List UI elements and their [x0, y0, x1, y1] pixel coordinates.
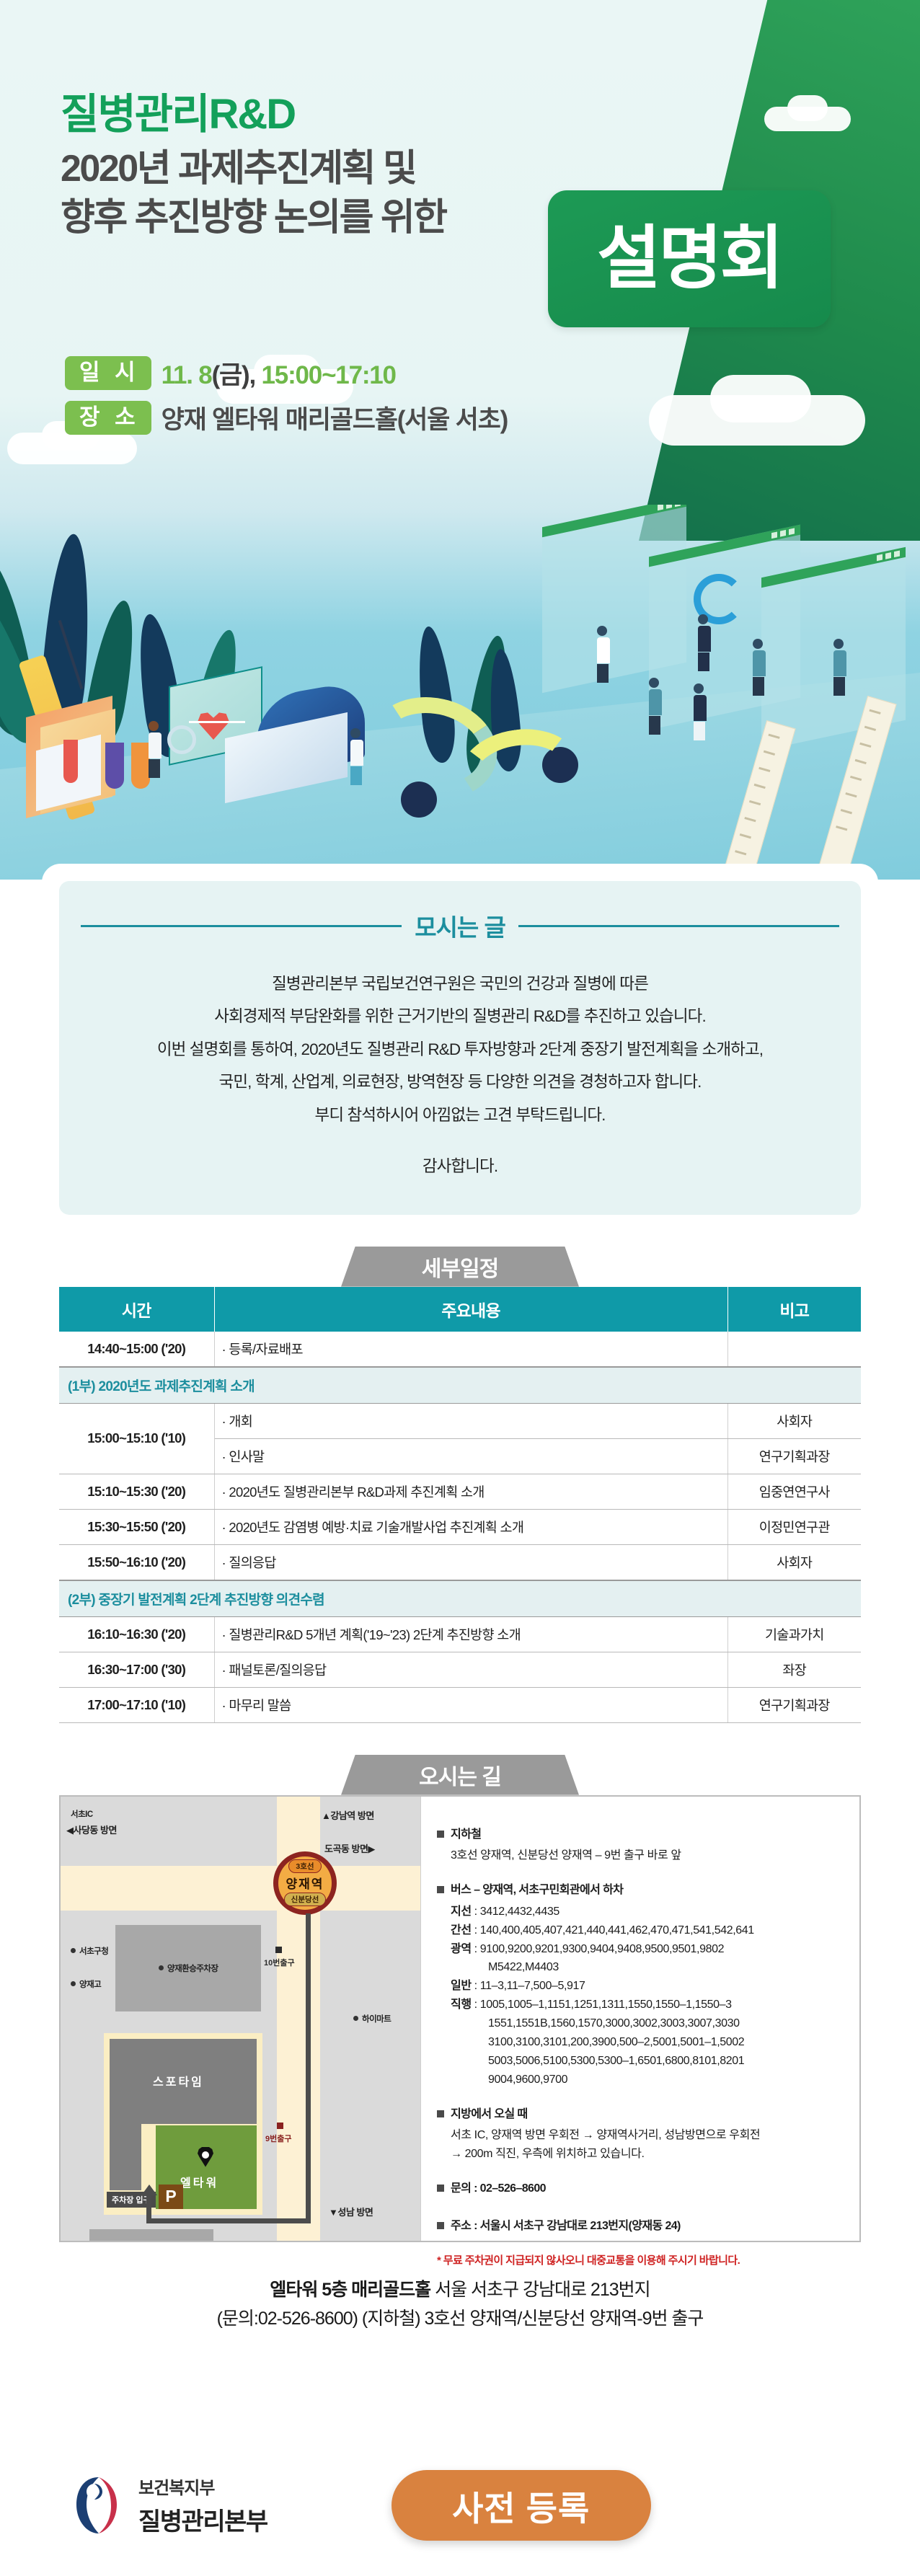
col-header-content: 주요내용 — [214, 1287, 727, 1332]
exit-10-label: 10번출구 — [264, 1957, 295, 1968]
subway-title: 지하철 — [451, 1825, 481, 1844]
date-value-day: (금), — [212, 361, 255, 389]
car-title: 지방에서 오실 때 — [451, 2105, 528, 2124]
cell-time: 14:40~15:00 ('20) — [59, 1332, 214, 1367]
exit-9-label: 9번출구 — [265, 2133, 291, 2144]
directions-section-tab: 오시는 길 — [341, 1755, 579, 1795]
illustration-person — [149, 721, 162, 778]
cell-content: · 2020년도 감염병 예방·치료 기술개발사업 추진계획 소개 — [214, 1509, 727, 1544]
part-label: (1부) 2020년도 과제추진계획 소개 — [59, 1367, 861, 1404]
col-header-time: 시간 — [59, 1287, 214, 1332]
illustration-person — [753, 639, 766, 696]
table-part-row: (2부) 중장기 발전계획 2단계 추진방향 의견수렴 — [59, 1580, 861, 1617]
car-line-2: → 200m 직진, 우측에 위치하고 있습니다. — [437, 2145, 841, 2164]
bus-block: 버스 – 양재역, 서초구민회관에서 하차 — [437, 1881, 841, 1900]
invitation-paragraph: 질병관리본부 국립보건연구원은 국민의 건강과 질병에 따른 — [81, 968, 839, 1000]
cell-content: · 인사말 — [214, 1438, 727, 1474]
hero-title-block: 질병관리R&D 2020년 과제추진계획 및 향후 추진방향 논의를 위한 — [61, 92, 446, 242]
map-poi-seochogu: 서초구청 — [71, 1945, 108, 1957]
road-horizontal — [61, 1866, 420, 1911]
bus-line: 직행 : 1005,1005–1,1151,1251,1311,1550,155… — [437, 1996, 841, 2014]
cell-content: · 패널토론/질의응답 — [214, 1652, 727, 1687]
map-poi-transfer-lot: 양재환승주차장 — [159, 1962, 218, 1974]
bus-line: 간선 : 140,400,405,407,421,440,441,462,470… — [437, 1921, 841, 1940]
taegeuk-logo-icon — [72, 2474, 125, 2536]
event-type-badge: 설명회 — [548, 190, 831, 327]
date-value-time: 15:00~17:10 — [262, 361, 396, 389]
address-block: 주소 : 서울시 서초구 강남대로 213번지(양재동 24) — [437, 2217, 841, 2236]
map-label-sadangdong: ◀사당동 방면 — [66, 1823, 117, 1836]
cell-content: · 개회 — [214, 1403, 727, 1438]
bus-line-cont: M5422,M4403 — [437, 1958, 841, 1977]
bus-line: 광역 : 9100,9200,9201,9300,9404,9408,9500,… — [437, 1940, 841, 1959]
poster-root: 질병관리R&D 2020년 과제추진계획 및 향후 추진방향 논의를 위한 설명… — [0, 0, 920, 2576]
station-line3-pill: 3호선 — [288, 1859, 321, 1873]
ministry-name: 보건복지부 — [138, 2474, 267, 2499]
ministry-logo-text: 보건복지부 질병관리본부 — [138, 2474, 267, 2537]
cell-time: 16:30~17:00 ('30) — [59, 1652, 214, 1687]
hero-illustration — [0, 505, 920, 880]
heading-rule-left — [81, 925, 402, 927]
cell-note: 연구기획과장 — [727, 1687, 861, 1722]
table-row: 17:00~17:10 ('10) · 마무리 말씀 연구기획과장 — [59, 1687, 861, 1722]
schedule-table: 시간 주요내용 비고 14:40~15:00 ('20) · 등록/자료배포 (… — [59, 1287, 861, 1723]
cell-note: 연구기획과장 — [727, 1438, 861, 1474]
route-path-vertical — [306, 1913, 311, 2223]
illustration-person — [833, 639, 846, 696]
station-marker: 3호선 양재역 신분당선 — [273, 1851, 337, 1915]
col-header-note: 비고 — [727, 1287, 861, 1332]
hero-subtitle-line1: 2020년 과제추진계획 및 — [61, 145, 446, 193]
invitation-thanks: 감사합니다. — [81, 1150, 839, 1182]
route-arrow-icon — [141, 2185, 157, 2195]
content-card: 모시는 글 질병관리본부 국립보건연구원은 국민의 건강과 질병에 따른 사회경… — [42, 864, 878, 2334]
table-row: 15:10~15:30 ('20) · 2020년도 질병관리본부 R&D과제 … — [59, 1474, 861, 1509]
cell-note: 임중연연구사 — [727, 1474, 861, 1509]
exit-10-marker — [275, 1947, 282, 1953]
map-dot-icon — [71, 1981, 76, 1986]
parking-warning: * 무료 주차권이 지급되지 않사오니 대중교통을 이용해 주시기 바랍니다. — [437, 2252, 841, 2267]
invitation-heading-text: 모시는 글 — [415, 908, 505, 943]
map-label-seongnam: ▼성남 방면 — [329, 2205, 373, 2218]
invitation-paragraph: 부디 참석하시어 아낌없는 고견 부탁드립니다. — [81, 1099, 839, 1131]
map-label-gangnam: ▲강남역 방면 — [322, 1808, 374, 1822]
bus-line-cont: 5003,5006,5100,5300,5300–1,6501,6800,810… — [437, 2052, 841, 2071]
cell-content: · 질의응답 — [214, 1544, 727, 1580]
date-value-pre: 11. 8 — [162, 361, 212, 389]
schedule-section: 세부일정 시간 주요내용 비고 14:40~15:00 ('20) · 등록/자… — [59, 1247, 861, 1723]
table-row: 16:10~16:30 ('20) · 질병관리R&D 5개년 계획('19~'… — [59, 1616, 861, 1652]
car-line-1: 서초 IC, 양재역 방면 우회전 → 양재역사거리, 성남방면으로 우회전 — [437, 2126, 841, 2145]
footer-bar: 보건복지부 질병관리본부 사전 등록 — [0, 2435, 920, 2576]
table-part-row: (1부) 2020년도 과제추진계획 소개 — [59, 1367, 861, 1404]
cell-time: 15:50~16:10 ('20) — [59, 1544, 214, 1580]
illustration-person — [649, 678, 662, 735]
subway-block: 지하철 — [437, 1825, 841, 1844]
date-tag: 일 시 — [65, 356, 151, 390]
table-row: 15:50~16:10 ('20) · 질의응답 사회자 — [59, 1544, 861, 1580]
cell-time: 16:10~16:30 ('20) — [59, 1616, 214, 1652]
cell-content: · 등록/자료배포 — [214, 1332, 727, 1367]
map-label-dogokdong: 도곡동 방면▶ — [324, 1841, 375, 1855]
map-poi-eltower: 엘타워 — [180, 2173, 218, 2190]
bullet-square-icon — [437, 1886, 444, 1893]
map-graphic: 서초IC ◀사당동 방면 ▲강남역 방면 도곡동 방면▶ ▼성남 방면 3호선 … — [61, 1797, 421, 2241]
map-dot-icon — [159, 1965, 164, 1970]
footer-venue-name: 엘타워 5층 매리골드홀 — [270, 2280, 430, 2300]
map-poi-himart: 하이마트 — [353, 2013, 391, 2024]
footer-address-line2: (문의:02-526-8600) (지하철) 3호선 양재역/신분당선 양재역-… — [59, 2304, 861, 2334]
brand-title: 질병관리R&D — [61, 92, 446, 138]
station-name: 양재역 — [286, 1874, 324, 1892]
place-value: 양재 엘타워 매리골드홀(서울 서초) — [162, 399, 508, 436]
directions-section: 오시는 길 서초IC ◀사당동 방면 ▲강남역 방면 도곡동 방면▶ ▼성남 방… — [59, 1755, 861, 2242]
schedule-section-title: 세부일정 — [422, 1251, 498, 1283]
illustration-person — [350, 728, 363, 785]
cell-note: 사회자 — [727, 1403, 861, 1438]
schedule-header-row: 시간 주요내용 비고 — [59, 1287, 861, 1332]
agency-name: 질병관리본부 — [138, 2502, 267, 2537]
date-value: 11. 8(금), 15:00~17:10 — [162, 355, 396, 391]
place-tag: 장 소 — [65, 401, 151, 435]
cell-note: 사회자 — [727, 1544, 861, 1580]
ministry-logo-group: 보건복지부 질병관리본부 — [72, 2474, 267, 2537]
part-label: (2부) 중장기 발전계획 2단계 추진방향 의견수렴 — [59, 1580, 861, 1617]
bullet-square-icon — [437, 2222, 444, 2229]
pre-register-button[interactable]: 사전 등록 — [392, 2470, 651, 2541]
map-dot-icon — [353, 2016, 358, 2021]
bus-line: 지선 : 3412,4432,4435 — [437, 1903, 841, 1921]
map-block-community-hall — [89, 2229, 213, 2241]
illustration-person — [698, 614, 711, 671]
hero-section: 질병관리R&D 2020년 과제추진계획 및 향후 추진방향 논의를 위한 설명… — [0, 0, 920, 880]
cell-note: 좌장 — [727, 1652, 861, 1687]
invitation-paragraph: 이번 설명회를 통하여, 2020년도 질병관리 R&D 투자방향과 2단계 중… — [81, 1033, 839, 1066]
bus-line: 일반 : 11–3,11–7,500–5,917 — [437, 1977, 841, 1996]
table-row: 15:00~15:10 ('10) · 개회 사회자 — [59, 1403, 861, 1438]
contact-block: 문의 : 02–526–8600 — [437, 2179, 841, 2198]
cell-time: 17:00~17:10 ('10) — [59, 1687, 214, 1722]
bullet-square-icon — [437, 2110, 444, 2117]
cell-content: · 질병관리R&D 5개년 계획('19~'23) 2단계 추진방향 소개 — [214, 1616, 727, 1652]
schedule-section-tab: 세부일정 — [341, 1247, 579, 1287]
address-title: 주소 : 서울시 서초구 강남대로 213번지(양재동 24) — [451, 2217, 681, 2236]
map-label-seochoic: 서초IC — [71, 1808, 93, 1820]
illustration-person — [694, 683, 707, 740]
map-block-spotime-wing — [110, 2124, 141, 2190]
cell-content: · 마무리 말씀 — [214, 1687, 727, 1722]
map-dot-icon — [71, 1948, 76, 1953]
invitation-paragraph: 사회경제적 부담완화를 위한 근거기반의 질병관리 R&D를 추진하고 있습니다… — [81, 1000, 839, 1032]
map-poi-yangjaego: 양재고 — [71, 1978, 101, 1990]
subway-detail: 3호선 양재역, 신분당선 양재역 – 9번 출구 바로 앞 — [437, 1846, 841, 1865]
event-type-badge-label: 설명회 — [597, 224, 782, 293]
cell-time: 15:00~15:10 ('10) — [59, 1403, 214, 1474]
illustration-person — [597, 626, 610, 683]
cell-time: 15:30~15:50 ('20) — [59, 1509, 214, 1544]
exit-9-marker — [277, 2123, 283, 2129]
table-row: 15:30~15:50 ('20) · 2020년도 감염병 예방·치료 기술개… — [59, 1509, 861, 1544]
table-row: 16:30~17:00 ('30) · 패널토론/질의응답 좌장 — [59, 1652, 861, 1687]
place-row: 장 소 양재 엘타워 매리골드홀(서울 서초) — [65, 399, 508, 436]
invitation-block: 모시는 글 질병관리본부 국립보건연구원은 국민의 건강과 질병에 따른 사회경… — [59, 881, 861, 1215]
invitation-paragraph: 국민, 학계, 산업계, 의료현장, 방역현장 등 다양한 의견을 경청하고자 … — [81, 1066, 839, 1098]
route-path-entry — [146, 2195, 151, 2223]
hero-info-rows: 일 시 11. 8(금), 15:00~17:10 장 소 양재 엘타워 매리골… — [65, 355, 508, 444]
pre-register-button-label: 사전 등록 — [452, 2481, 590, 2531]
bullet-square-icon — [437, 2185, 444, 2192]
cell-note — [727, 1332, 861, 1367]
route-path-horizontal — [149, 2218, 311, 2223]
bus-title: 버스 – 양재역, 서초구민회관에서 하차 — [451, 1881, 623, 1900]
directions-text: 지하철 3호선 양재역, 신분당선 양재역 – 9번 출구 바로 앞 버스 – … — [421, 1797, 859, 2241]
table-row: 14:40~15:00 ('20) · 등록/자료배포 — [59, 1332, 861, 1367]
bus-line-cont: 3100,3100,3101,200,3900,500–2,5001,5001–… — [437, 2033, 841, 2052]
cell-content: · 2020년도 질병관리본부 R&D과제 추진계획 소개 — [214, 1474, 727, 1509]
cell-note: 이정민연구관 — [727, 1509, 861, 1544]
date-row: 일 시 11. 8(금), 15:00~17:10 — [65, 355, 508, 391]
heading-rule-right — [518, 925, 839, 927]
bus-line-cont: 9004,9600,9700 — [437, 2071, 841, 2089]
map-container: 서초IC ◀사당동 방면 ▲강남역 방면 도곡동 방면▶ ▼성남 방면 3호선 … — [59, 1795, 861, 2242]
footer-address-line1: 엘타워 5층 매리골드홀 서울 서초구 강남대로 213번지 — [59, 2275, 861, 2305]
parking-p-icon: P — [159, 2185, 183, 2209]
hero-subtitle-line2: 향후 추진방향 논의를 위한 — [61, 194, 446, 242]
footer-address: 엘타워 5층 매리골드홀 서울 서초구 강남대로 213번지 (문의:02-52… — [59, 2275, 861, 2334]
car-block: 지방에서 오실 때 — [437, 2105, 841, 2124]
bullet-square-icon — [437, 1831, 444, 1838]
bus-line-cont: 1551,1551B,1560,1570,3000,3002,3003,3007… — [437, 2014, 841, 2033]
map-poi-spotime: 스포타임 — [153, 2072, 204, 2089]
contact-title: 문의 : 02–526–8600 — [451, 2179, 546, 2198]
cell-time: 15:10~15:30 ('20) — [59, 1474, 214, 1509]
directions-section-title: 오시는 길 — [419, 1759, 501, 1791]
invitation-heading: 모시는 글 — [81, 908, 839, 943]
footer-venue-addr: 서울 서초구 강남대로 213번지 — [430, 2280, 650, 2300]
cell-note: 기술과가치 — [727, 1616, 861, 1652]
station-sinbundang-pill: 신분당선 — [284, 1893, 327, 1906]
